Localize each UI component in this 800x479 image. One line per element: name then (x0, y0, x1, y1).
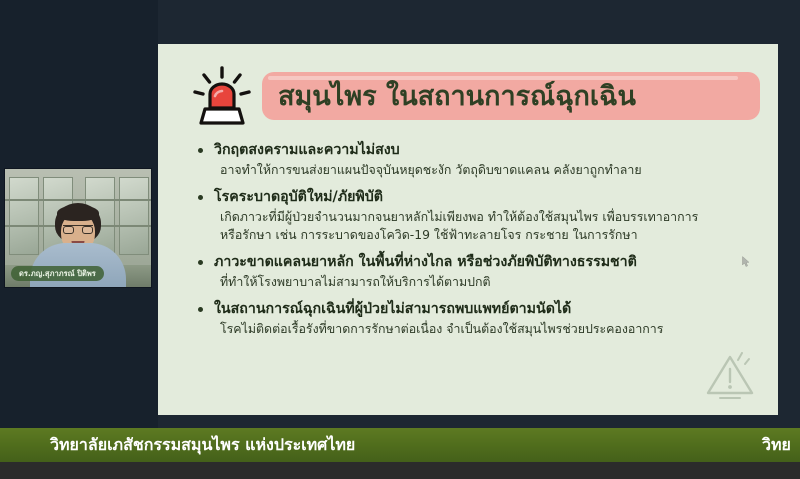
bullet-heading-text: ภาวะขาดแคลนยาหลัก ในพื้นที่ห่างไกล หรือช… (214, 254, 637, 270)
bullet-item: โรคระบาดอุบัติใหม่/ภัยพิบัติ เกิดภาวะที่… (194, 187, 762, 243)
slide-title-row: สมุนไพร ในสถานการณ์ฉุกเฉิน (182, 62, 768, 128)
speaker-glasses (63, 225, 93, 234)
warning-triangle-icon (704, 351, 756, 401)
bullet-body-text: อาจทำให้การขนส่งยาแผนปัจจุบันหยุดชะงัก ว… (194, 161, 762, 178)
bullet-body-text-line2: หรือรักษา เช่น การระบาดของโควิด-19 ใช้ฟ้… (194, 226, 762, 243)
screen-root: สมุนไพร ในสถานการณ์ฉุกเฉิน วิกฤตสงครามแล… (0, 0, 800, 479)
bullet-item: วิกฤตสงครามและความไม่สงบ อาจทำให้การขนส่… (194, 140, 762, 178)
bullet-heading: ภาวะขาดแคลนยาหลัก ในพื้นที่ห่างไกล หรือช… (194, 252, 762, 272)
cabinet-shelf (5, 199, 151, 201)
bullet-body-text: เกิดภาวะที่มีผู้ป่วยจำนวนมากจนยาหลักไม่เ… (194, 208, 762, 225)
bullet-heading-text: ในสถานการณ์ฉุกเฉินที่ผู้ป่วยไม่สามารถพบแ… (214, 301, 571, 317)
bullet-dot-icon (198, 148, 203, 153)
ticker-text-repeat: วิทย (762, 434, 791, 456)
page-title: สมุนไพร ในสถานการณ์ฉุกเฉิน (278, 78, 636, 116)
bullet-dot-icon (198, 195, 203, 200)
speaker-fringe (57, 205, 99, 221)
speaker-name-tag: ดร.ภญ.สุภาภรณ์ ปิติพร (11, 266, 104, 281)
bullet-heading-text: โรคระบาดอุบัติใหม่/ภัยพิบัติ (214, 189, 383, 205)
cabinet-door (9, 177, 39, 255)
ticker-text: วิทยาลัยเภสัชกรรมสมุนไพร แห่งประเทศไทย (50, 434, 355, 456)
slide-canvas: สมุนไพร ในสถานการณ์ฉุกเฉิน วิกฤตสงครามแล… (158, 44, 778, 415)
webcam-video-tile[interactable]: ดร.ภญ.สุภาภรณ์ ปิติพร (4, 168, 152, 288)
presentation-stage: สมุนไพร ในสถานการณ์ฉุกเฉิน วิกฤตสงครามแล… (0, 0, 800, 428)
emergency-siren-icon (190, 66, 254, 126)
bottom-letterbox-bar (0, 462, 800, 479)
bullet-body-text: โรคไม่ติดต่อเรื้อรังที่ขาดการรักษาต่อเนื… (194, 320, 762, 337)
mouse-cursor-icon (742, 256, 750, 267)
cabinet-door (119, 177, 149, 255)
bullet-dot-icon (198, 260, 203, 265)
bullet-heading: โรคระบาดอุบัติใหม่/ภัยพิบัติ (194, 187, 762, 207)
bullet-item: ภาวะขาดแคลนยาหลัก ในพื้นที่ห่างไกล หรือช… (194, 252, 762, 290)
bullet-heading-text: วิกฤตสงครามและความไม่สงบ (214, 142, 400, 158)
bottom-ticker-bar: วิทยาลัยเภสัชกรรมสมุนไพร แห่งประเทศไทย ว… (0, 428, 800, 462)
bullet-list: วิกฤตสงครามและความไม่สงบ อาจทำให้การขนส่… (194, 140, 762, 346)
bullet-item: ในสถานการณ์ฉุกเฉินที่ผู้ป่วยไม่สามารถพบแ… (194, 299, 762, 337)
bullet-body-text: ที่ทำให้โรงพยาบาลไม่สามารถให้บริการได้ตา… (194, 273, 762, 290)
bullet-heading: ในสถานการณ์ฉุกเฉินที่ผู้ป่วยไม่สามารถพบแ… (194, 299, 762, 319)
bullet-dot-icon (198, 307, 203, 312)
bullet-heading: วิกฤตสงครามและความไม่สงบ (194, 140, 762, 160)
